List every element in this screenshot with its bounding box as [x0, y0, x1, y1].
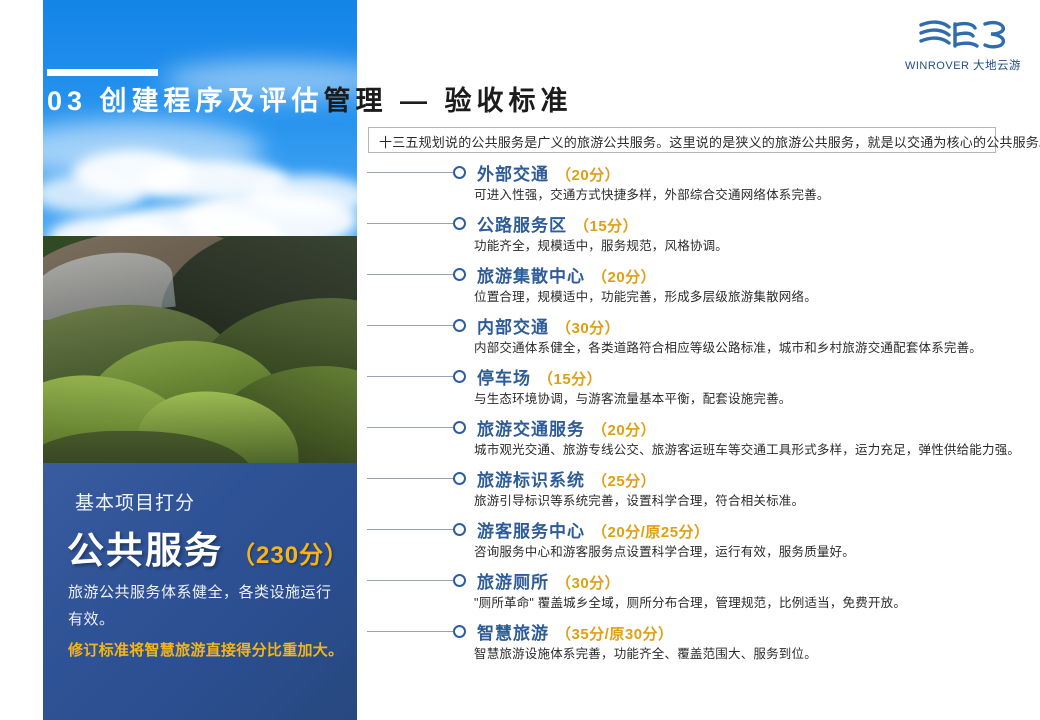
criteria-heading: 游客服务中心（20分/原25分） [477, 517, 710, 542]
criteria-item[interactable]: 旅游厕所（30分）"厕所革命" 覆盖城乡全域，厕所分布合理，管理规范，比例适当，… [367, 570, 1007, 621]
criteria-heading: 外部交通（20分） [477, 160, 620, 185]
connector-line [367, 580, 456, 581]
criteria-heading: 旅游标识系统（25分） [477, 466, 656, 491]
criteria-description: 与生态环境协调，与游客流量基本平衡，配套设施完善。 [474, 388, 792, 407]
criteria-name: 旅游集散中心 [477, 267, 585, 286]
connector-line [367, 223, 456, 224]
brand-en: WINROVER [905, 60, 970, 72]
criteria-score: （20分） [592, 269, 656, 286]
bullet-circle-icon [453, 421, 466, 434]
criteria-heading: 旅游交通服务（20分） [477, 415, 656, 440]
criteria-item[interactable]: 公路服务区（15分）功能齐全，规模适中，服务规范，风格协调。 [367, 213, 1007, 264]
criteria-score: （25分） [592, 473, 656, 490]
criteria-description: 智慧旅游设施体系完善，功能齐全、覆盖范围大、服务到位。 [474, 643, 817, 662]
criteria-description: 位置合理，规模适中，功能完善，形成多层级旅游集散网络。 [474, 286, 817, 305]
criteria-heading: 旅游集散中心（20分） [477, 262, 656, 287]
bullet-circle-icon [453, 370, 466, 383]
criteria-heading: 智慧旅游（35分/原30分） [477, 619, 674, 644]
page-title-part2: 管理 — 验收标准 [324, 86, 573, 116]
slide-canvas: 03 创建程序及评估管理 — 验收标准 WINROVER 大地云游 基本项目打分… [0, 0, 1040, 720]
criteria-name: 内部交通 [477, 318, 549, 337]
connector-line [367, 172, 456, 173]
bullet-circle-icon [453, 268, 466, 281]
page-title-part1: 03 创建程序及评估 [47, 86, 324, 116]
summary-kicker: 基本项目打分 [75, 488, 195, 515]
criteria-score: （35分/原30分） [556, 626, 674, 643]
criteria-name: 公路服务区 [477, 216, 567, 235]
criteria-name: 停车场 [477, 369, 531, 388]
criteria-name: 智慧旅游 [477, 624, 549, 643]
criteria-score: （30分） [556, 575, 620, 592]
criteria-description: 内部交通体系健全，各类道路符合相应等级公路标准，城市和乡村旅游交通配套体系完善。 [474, 337, 982, 356]
connector-line [367, 631, 456, 632]
connector-line [367, 376, 456, 377]
summary-headline: 公共服务（230分） [67, 520, 349, 574]
title-accent-bar [47, 69, 158, 76]
connector-line [367, 325, 456, 326]
criteria-description: 功能齐全，规模适中，服务规范，风格协调。 [474, 235, 728, 254]
bullet-circle-icon [453, 574, 466, 587]
criteria-item[interactable]: 旅游集散中心（20分）位置合理，规模适中，功能完善，形成多层级旅游集散网络。 [367, 264, 1007, 315]
criteria-item[interactable]: 外部交通（20分）可进入性强，交通方式快捷多样，外部综合交通网络体系完善。 [367, 162, 1007, 213]
winrover-mark-icon [915, 16, 1011, 54]
summary-description: 旅游公共服务体系健全，各类设施运行有效。 [68, 579, 340, 633]
criteria-name: 旅游交通服务 [477, 420, 585, 439]
criteria-description: 咨询服务中心和游客服务点设置科学合理，运行有效，服务质量好。 [474, 541, 855, 560]
criteria-heading: 旅游厕所（30分） [477, 568, 620, 593]
criteria-description: 可进入性强，交通方式快捷多样，外部综合交通网络体系完善。 [474, 184, 830, 203]
criteria-description: "厕所革命" 覆盖城乡全域，厕所分布合理，管理规范，比例适当，免费开放。 [474, 592, 906, 611]
criteria-score: （20分） [592, 422, 656, 439]
criteria-item[interactable]: 停车场（15分）与生态环境协调，与游客流量基本平衡，配套设施完善。 [367, 366, 1007, 417]
criteria-name: 旅游标识系统 [477, 471, 585, 490]
connector-line [367, 478, 456, 479]
connector-line [367, 529, 456, 530]
header-note-box: 十三五规划说的公共服务是广义的旅游公共服务。这里说的是狭义的旅游公共服务，就是以… [368, 127, 996, 153]
summary-headline-score: （230分） [231, 542, 349, 569]
bullet-circle-icon [453, 625, 466, 638]
page-title: 03 创建程序及评估管理 — 验收标准 [47, 83, 573, 119]
criteria-score: （15分） [538, 371, 602, 388]
bullet-circle-icon [453, 319, 466, 332]
criteria-score: （30分） [556, 320, 620, 337]
criteria-item[interactable]: 内部交通（30分）内部交通体系健全，各类道路符合相应等级公路标准，城市和乡村旅游… [367, 315, 1007, 366]
criteria-score: （20分/原25分） [592, 524, 710, 541]
criteria-score: （20分） [556, 167, 620, 184]
criteria-item[interactable]: 旅游交通服务（20分）城市观光交通、旅游专线公交、旅游客运班车等交通工具形式多样… [367, 417, 1007, 468]
brand-logo-text: WINROVER 大地云游 [900, 57, 1026, 73]
criteria-heading: 内部交通（30分） [477, 313, 620, 338]
criteria-item[interactable]: 旅游标识系统（25分）旅游引导标识等系统完善，设置科学合理，符合相关标准。 [367, 468, 1007, 519]
criteria-item[interactable]: 智慧旅游（35分/原30分）智慧旅游设施体系完善，功能齐全、覆盖范围大、服务到位… [367, 621, 1007, 672]
criteria-list: 外部交通（20分）可进入性强，交通方式快捷多样，外部综合交通网络体系完善。公路服… [367, 162, 1007, 672]
header-note-text: 十三五规划说的公共服务是广义的旅游公共服务。这里说的是狭义的旅游公共服务，就是以… [379, 132, 1040, 151]
brand-cn: 大地云游 [973, 60, 1021, 72]
criteria-name: 游客服务中心 [477, 522, 585, 541]
criteria-score: （15分） [574, 218, 638, 235]
criteria-heading: 公路服务区（15分） [477, 211, 638, 236]
connector-line [367, 274, 456, 275]
summary-panel: 基本项目打分 公共服务（230分） 旅游公共服务体系健全，各类设施运行有效。 修… [43, 463, 357, 720]
bullet-circle-icon [453, 523, 466, 536]
criteria-heading: 停车场（15分） [477, 364, 602, 389]
brand-logo: WINROVER 大地云游 [900, 16, 1026, 74]
summary-headline-text: 公共服务 [67, 530, 223, 571]
bullet-circle-icon [453, 217, 466, 230]
criteria-name: 旅游厕所 [477, 573, 549, 592]
criteria-item[interactable]: 游客服务中心（20分/原25分）咨询服务中心和游客服务点设置科学合理，运行有效，… [367, 519, 1007, 570]
criteria-description: 旅游引导标识等系统完善，设置科学合理，符合相关标准。 [474, 490, 804, 509]
criteria-name: 外部交通 [477, 165, 549, 184]
mountain-landscape [43, 236, 357, 463]
summary-note: 修订标准将智慧旅游直接得分比重加大。 [68, 639, 353, 660]
bullet-circle-icon [453, 472, 466, 485]
criteria-description: 城市观光交通、旅游专线公交、旅游客运班车等交通工具形式多样，运力充足，弹性供给能… [474, 439, 1020, 458]
bullet-circle-icon [453, 166, 466, 179]
connector-line [367, 427, 456, 428]
